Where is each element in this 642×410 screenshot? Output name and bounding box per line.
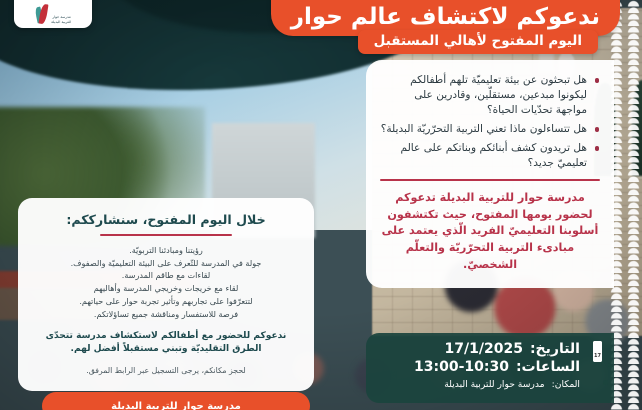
list-item: لقاء مع خريجات وخريجي المدرسة وأهاليهم xyxy=(34,283,298,295)
agenda-cta: ندعوكم للحضور مع أطفالكم لاستكشاف مدرسة … xyxy=(34,330,298,357)
questions-panel: هل تبحثون عن بيئة تعليميّة تلهم أطفالكم … xyxy=(366,60,614,288)
calendar-icon: 17 xyxy=(587,342,602,357)
clock-icon xyxy=(587,360,602,375)
date-value: 17/1/2025 xyxy=(445,341,523,357)
agenda-heading: خلال اليوم المفتوح، سنشارككم: xyxy=(34,212,298,227)
registration-note: لحجز مكانكم، يرجى التسجيل عبر الرابط الم… xyxy=(34,366,298,375)
place-value: مدرسة حوار للتربية البديلة xyxy=(444,379,544,390)
questions-list: هل تبحثون عن بيئة تعليميّة تلهم أطفالكم … xyxy=(380,73,600,171)
date-label: التاريخ: xyxy=(530,341,580,357)
date-row: 17 التاريخ: 17/1/2025 xyxy=(378,341,602,357)
bottom-banner: مدرسة حوار للتربية البديلة xyxy=(42,392,310,410)
time-label: الساعات: xyxy=(516,359,580,375)
list-item: فرصة للاستفسار ومناقشة جميع تساؤلاتكم. xyxy=(34,309,298,321)
list-item: هل تتساءلون ماذا تعني التربية التحرّريّة… xyxy=(380,122,600,137)
logo-line-1: مدرسة حوار xyxy=(51,15,71,19)
place-label: المكان: xyxy=(552,379,580,390)
divider xyxy=(380,179,600,181)
time-value: 13:00-10:30 xyxy=(414,359,509,375)
logo-flame-icon xyxy=(35,2,48,24)
place-row: المكان: مدرسة حوار للتربية البديلة xyxy=(378,377,602,392)
list-item: جولة في المدرسة للتّعرف على البيئة التعل… xyxy=(34,258,298,270)
list-item: لتتعرّفوا على تجاربهم وتأثير تجربة حوار … xyxy=(34,296,298,308)
list-item: هل تبحثون عن بيئة تعليميّة تلهم أطفالكم … xyxy=(380,73,600,118)
agenda-list: رؤيتنا ومبادئنا التربويّة. جولة في المدر… xyxy=(34,245,298,321)
school-logo: مدرسة حوار للتربية البديلة xyxy=(14,0,92,28)
list-item: رؤيتنا ومبادئنا التربويّة. xyxy=(34,245,298,257)
logo-text: مدرسة حوار للتربية البديلة xyxy=(51,15,71,24)
list-item: هل تريدون كشف أبنائكم وبناتكم على عالم ت… xyxy=(380,141,600,171)
calendar-day: 17 xyxy=(594,353,601,359)
event-details-box: 17 التاريخ: 17/1/2025 الساعات: 13:00-10:… xyxy=(366,333,614,403)
agenda-panel: خلال اليوم المفتوح، سنشارككم: رؤيتنا ومب… xyxy=(18,198,314,391)
event-poster: مدرسة حوار للتربية البديلة ندعوكم لاكتشا… xyxy=(0,0,642,410)
location-pin-icon xyxy=(587,377,602,392)
time-row: الساعات: 13:00-10:30 xyxy=(378,359,602,375)
highlight-text: مدرسة حوار للتربية البديلة تدعوكم لحضور … xyxy=(380,190,600,274)
logo-line-2: للتربية البديلة xyxy=(51,20,71,24)
heading-underline xyxy=(100,234,232,236)
poster-subtitle: اليوم المفتوح لأهالي المستقبل xyxy=(358,30,598,54)
list-item: لقاءات مع طاقم المدرسة. xyxy=(34,270,298,282)
